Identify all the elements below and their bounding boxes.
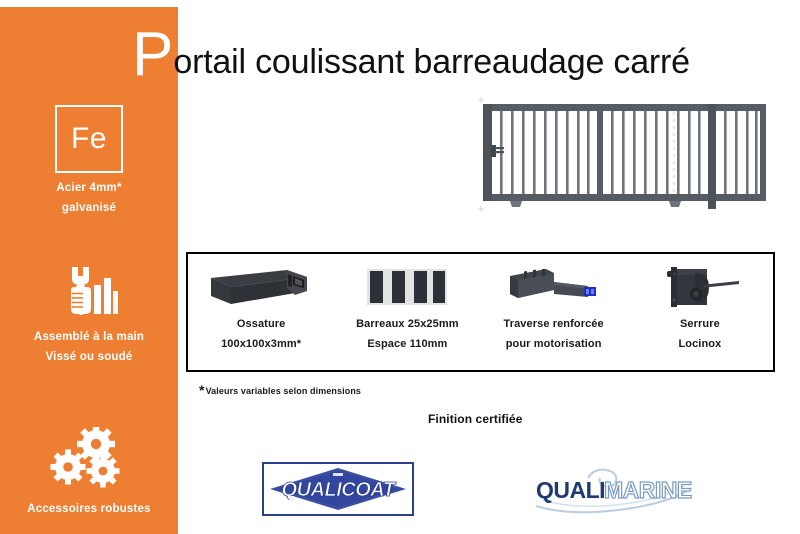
sidebar-item-assembly: Assemblé à la main Vissé ou soudé [0,265,178,363]
footnote: *Valeurs variables selon dimensions [199,382,361,398]
certification-heading: Finition certifiée [428,412,522,426]
svg-text:QUALI: QUALI [536,477,605,503]
assembly-label-line2: Vissé ou soudé [0,351,178,363]
sidebar-item-accessories: Accessoires robustes [0,427,178,515]
square-tube-profile-icon [209,262,313,312]
traverse-line1: Traverse renforcée [503,318,603,331]
material-label-line2: galvanisé [0,202,178,214]
features-box: Ossature 100x100x3mm* Barreaux 25x25mm E… [186,252,775,372]
accessories-label-line1: Accessoires robustes [0,503,178,515]
ossature-line2: 100x100x3mm* [221,338,301,351]
page-title: P ortail coulissant barreaudage carré [132,22,690,84]
traverse-line2: pour motorisation [506,338,602,351]
fe-element-box-icon: Fe [55,105,123,173]
motorisation-beam-icon [502,262,606,312]
qualimarine-logo: QUALI MARINE [528,466,700,514]
barreaux-line1: Barreaux 25x25mm [356,318,459,331]
page-title-capital: P [132,24,173,86]
feature-traverse: Traverse renforcée pour motorisation [481,254,627,370]
footnote-text: Valeurs variables selon dimensions [206,386,361,396]
vertical-bars-icon [359,262,455,312]
ossature-line1: Ossature [237,318,286,331]
feature-ossature: Ossature 100x100x3mm* [188,254,334,370]
barreaux-line2: Espace 110mm [367,338,447,351]
fe-symbol-label: Fe [71,124,107,154]
sliding-gate-illustration [466,96,784,218]
sidebar-item-material: Fe Acier 4mm* galvanisé [0,105,178,214]
svg-text:MARINE: MARINE [604,477,692,503]
feature-barreaux: Barreaux 25x25mm Espace 110mm [334,254,480,370]
wrench-tools-icon [0,265,178,322]
product-spec-sheet: Fe Acier 4mm* galvanisé [0,0,800,534]
serrure-line2: Locinox [678,338,721,351]
gears-icon [0,427,178,494]
page-title-text: ortail coulissant barreaudage carré [173,45,690,79]
lock-icon [655,262,745,312]
footnote-star: * [199,382,205,398]
svg-text:QUALICOAT: QUALICOAT [282,479,397,501]
assembly-label-line1: Assemblé à la main [0,331,178,343]
serrure-line1: Serrure [680,318,720,331]
feature-serrure: Serrure Locinox [627,254,773,370]
qualicoat-logo: QUALICOAT [262,462,414,516]
material-label-line1: Acier 4mm* [0,182,178,194]
